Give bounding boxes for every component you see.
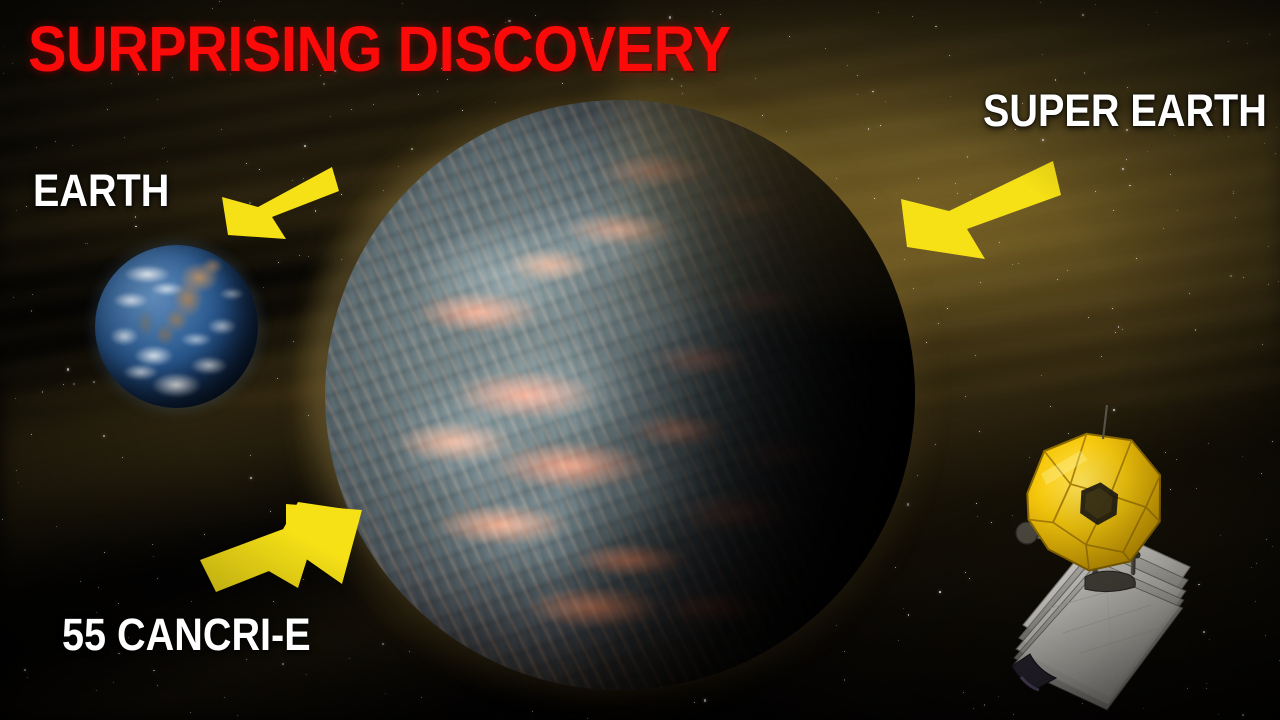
label-55-cancri-e: 55 CANCRI-E	[62, 612, 311, 657]
jwst-instrument-module	[1085, 571, 1135, 591]
arrow-to-cancri	[190, 498, 370, 602]
earth-shading	[95, 245, 258, 408]
arrow-to-super-earth	[895, 155, 1067, 263]
arrow-to-earth	[218, 163, 343, 245]
earth-globe	[95, 245, 258, 408]
jwst-telescope	[985, 395, 1200, 695]
label-super-earth: SUPER EARTH	[983, 88, 1267, 133]
lava-planet	[325, 100, 915, 690]
planet-limb-mask	[325, 100, 915, 690]
jwst-secondary-mast	[1103, 405, 1107, 439]
page-title: SURPRISING DISCOVERY	[28, 17, 731, 81]
label-earth: EARTH	[33, 168, 169, 213]
thumbnail-scene: SURPRISING DISCOVERY EARTH SUPER EARTH 5…	[0, 0, 1280, 720]
